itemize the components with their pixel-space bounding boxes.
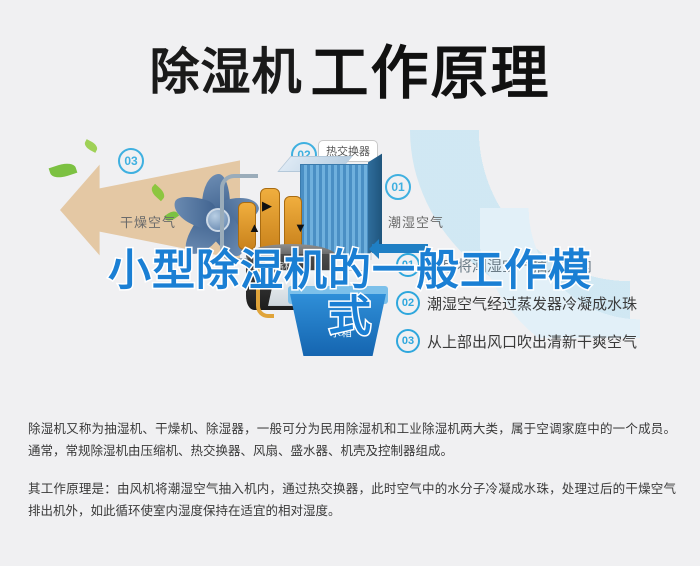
body-text: 除湿机又称为抽湿机、干燥机、除湿器，一般可分为民用除湿机和工业除湿机两大类，属于… xyxy=(28,418,676,538)
paragraph-1: 除湿机又称为抽湿机、干燥机、除湿器，一般可分为民用除湿机和工业除湿机两大类，属于… xyxy=(28,418,676,462)
paragraph-2: 其工作原理是：由风机将潮湿空气抽入机内，通过热交换器，此时空气中的水分子冷凝成水… xyxy=(28,478,676,522)
infographic-page: 除湿机工作原理 干燥空气 潮湿空气 03 02 01 热交换器 xyxy=(0,0,700,566)
diagram-badge-03: 03 xyxy=(118,148,144,174)
flow-arrow-up-icon: ▲ xyxy=(248,220,261,235)
leaf-icon xyxy=(49,160,78,180)
title-part-2: 工作原理 xyxy=(310,41,550,106)
title-part-1: 除湿机 xyxy=(149,44,302,100)
humid-air-label: 潮湿空气 xyxy=(388,212,444,231)
overlay-headline: 小型除湿机的一般工作模 式 xyxy=(0,248,700,340)
overlay-line-1: 小型除湿机的一般工作模 xyxy=(0,248,700,294)
diagram-badge-01: 01 xyxy=(385,174,411,200)
leaf-icon xyxy=(83,139,99,153)
flow-arrow-right-icon: ▶ xyxy=(262,198,272,214)
overlay-line-2: 式 xyxy=(0,294,700,340)
flow-arrow-down-icon: ▼ xyxy=(294,220,307,235)
page-title: 除湿机工作原理 xyxy=(0,26,700,110)
